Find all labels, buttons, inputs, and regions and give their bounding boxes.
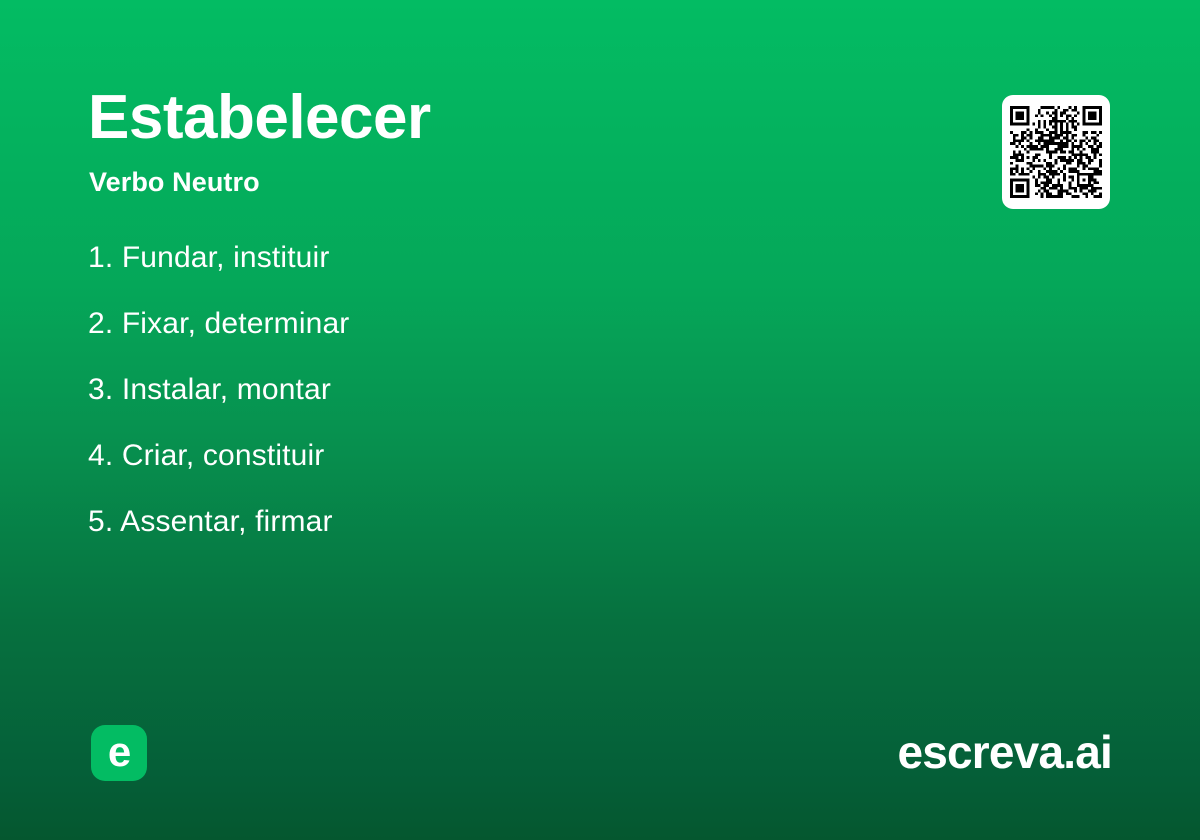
list-item: 2. Fixar, determinar <box>88 309 928 339</box>
logo-letter: e <box>108 731 130 773</box>
definition-list: 1. Fundar, instituir 2. Fixar, determina… <box>88 243 928 537</box>
qr-code-card[interactable] <box>1002 95 1110 209</box>
escreva-logo-icon: e <box>91 725 147 781</box>
qr-code-icon[interactable] <box>1010 106 1102 198</box>
word-class-label: Verbo Neutro <box>89 166 260 198</box>
definition-text: Instalar, montar <box>122 373 331 406</box>
list-item: 3. Instalar, montar <box>88 375 928 405</box>
definition-text: Criar, constituir <box>122 439 325 472</box>
page-title: Estabelecer <box>88 85 431 150</box>
definition-text: Fixar, determinar <box>122 307 350 340</box>
definition-index: 4. <box>88 439 113 472</box>
definition-text: Fundar, instituir <box>122 241 330 274</box>
definition-index: 5. <box>88 505 113 538</box>
definition-index: 3. <box>88 373 113 406</box>
definition-index: 1. <box>88 241 113 274</box>
dictionary-entry-card: Estabelecer Verbo Neutro 1. Fundar, inst… <box>0 0 1200 840</box>
brand-wordmark: escreva.ai <box>897 727 1112 778</box>
list-item: 5. Assentar, firmar <box>88 507 928 537</box>
list-item: 1. Fundar, instituir <box>88 243 928 273</box>
definition-text: Assentar, firmar <box>120 505 332 538</box>
list-item: 4. Criar, constituir <box>88 441 928 471</box>
definition-index: 2. <box>88 307 113 340</box>
